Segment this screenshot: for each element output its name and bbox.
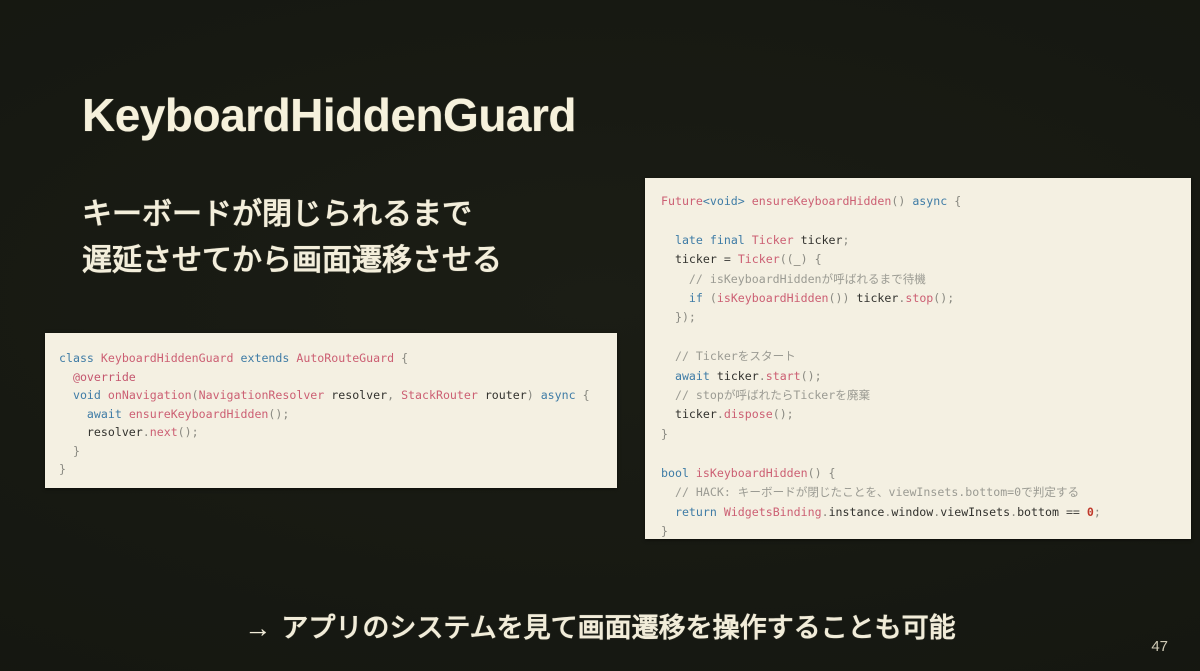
arrow-right-icon: → [244, 613, 271, 643]
presentation-slide: KeyboardHiddenGuard キーボードが閉じられるまで 遅延させてか… [0, 0, 1200, 671]
page-number: 47 [1151, 638, 1168, 655]
subtitle-line-1: キーボードが閉じられるまで [82, 192, 502, 238]
slide-caption: →アプリのシステムを見て画面遷移を操作することも可能 [0, 606, 1200, 645]
slide-subtitle: キーボードが閉じられるまで 遅延させてから画面遷移させる [82, 192, 502, 283]
code-content-left: class KeyboardHiddenGuard extends AutoRo… [59, 349, 603, 479]
slide-title: KeyboardHiddenGuard [82, 88, 576, 142]
code-block-keyboard-hidden-guard: class KeyboardHiddenGuard extends AutoRo… [45, 333, 617, 488]
subtitle-line-2: 遅延させてから画面遷移させる [82, 238, 502, 284]
caption-text: アプリのシステムを見て画面遷移を操作することも可能 [281, 613, 955, 643]
code-block-ensure-keyboard-hidden: Future<void> ensureKeyboardHidden() asyn… [645, 178, 1191, 539]
code-content-right: Future<void> ensureKeyboardHidden() asyn… [661, 192, 1175, 539]
